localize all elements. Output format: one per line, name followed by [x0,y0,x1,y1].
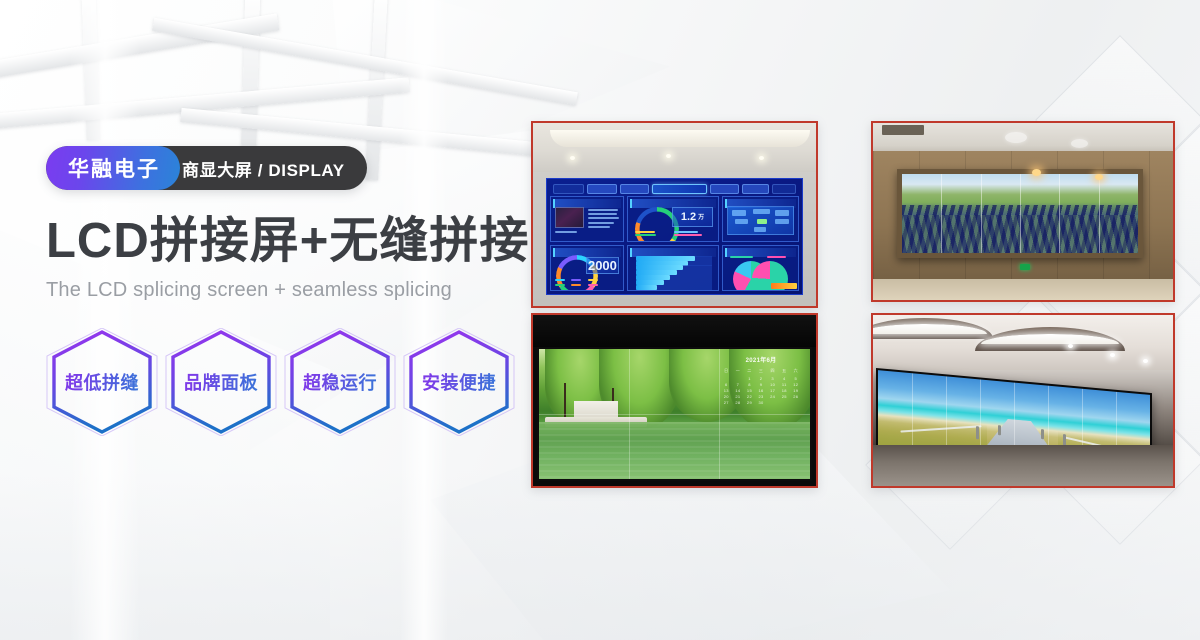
metric-value: 2000 [588,258,617,273]
calendar-day: 30 [755,400,767,406]
dashboard-panel-donut: 1.2 万 [627,196,719,242]
brand-badge-group: 华融电子 商显大屏 / DISPLAY [46,146,367,190]
calendar-title: 2021年6月 [720,357,801,366]
feature-label: 品牌面板 [165,369,277,395]
photo-beach-boardwalk-wall[interactable] [871,313,1175,488]
panel-seam [912,373,913,450]
feature-label: 超低拼缝 [46,369,158,395]
dashboard-title-chip [652,184,707,194]
wall-spotlight [1032,169,1041,176]
calendar-overlay: 2021年6月 日一二三四五六 123456789101112131415161… [720,357,801,409]
calendar-day: 28 [732,400,744,406]
panel-seam [539,414,810,415]
calendar-weekday: 五 [778,368,790,374]
panel-seam [719,349,720,478]
panel-seam [981,174,982,253]
calendar-day: 27 [720,400,732,406]
floor [873,279,1173,300]
calendar-day: 29 [744,400,756,406]
page-subtitle: The LCD splicing screen + seamless splic… [46,279,516,302]
ceiling-beam-vertical [241,0,261,165]
dashboard-panel-grid: 1.2 万 [550,196,800,291]
panel-seam [946,376,947,453]
dashboard-nav-chip [620,184,649,194]
dashboard-panel-donut2: 2000 [550,245,624,291]
product-banner: 华融电子 商显大屏 / DISPLAY LCD拼接屏+无缝拼接 The LCD … [0,0,1200,640]
calendar-weekday: 一 [732,368,744,374]
alert-ticker [771,283,797,289]
feature-label: 超稳运行 [284,369,396,395]
category-badge: 商显大屏 / DISPLAY [166,146,367,190]
ceiling-beam-horizontal [0,13,279,79]
dashboard-panel-flow [722,196,799,242]
panel-thumbnail [555,207,584,228]
brand-badge: 华融电子 [46,146,180,190]
dashboard-panel-bars [627,245,719,291]
dashboard-user-chip [772,184,796,194]
photo-willow-lake-wall[interactable]: 2021年6月 日一二三四五六 123456789101112131415161… [531,313,818,488]
metric-primary: 1.2 万 [672,207,714,227]
photo-content [873,123,1173,300]
ceiling-dome-light [1005,132,1027,143]
calendar-weekday: 三 [755,368,767,374]
bg-facet-5 [0,470,1200,640]
dashboard-nav-chip [587,184,616,194]
ceiling-beam-vertical [81,0,100,140]
feature-hexagon-3: 安装便捷 [403,328,515,436]
dashboard-nav-chip [710,184,739,194]
video-wall-screen [902,174,1138,253]
panel-seam [1059,174,1060,253]
photo-dashboard-wall[interactable]: 1.2 万 [531,121,818,308]
metric-secondary: 2000 [586,257,619,275]
metric-unit: 万 [698,212,704,221]
calendar-weekday: 六 [790,368,802,374]
panel-seam [1099,174,1100,253]
video-wall-screen: 2021年6月 日一二三四五六 123456789101112131415161… [539,349,810,478]
video-wall-screen: 1.2 万 [546,178,804,295]
feature-label: 安装便捷 [403,369,515,395]
calendar-weekday: 日 [720,368,732,374]
ceiling-dome-light [1071,139,1088,148]
photo-content [873,315,1173,486]
ceiling-vent [882,125,924,136]
rail-post [976,427,979,440]
calendar-day-grid: 1234567891011121314151617181920212223242… [720,376,801,406]
dashboard-timestamp [553,184,585,194]
lake-water [539,422,810,479]
calendar-weekday: 二 [744,368,756,374]
wall-upper-dark [533,315,816,347]
ceiling-cove [550,130,810,146]
video-wall-frame: 2021年6月 日一二三四五六 123456789101112131415161… [537,347,812,480]
dashboard-panel-pies [722,245,799,291]
feature-hexagon-row: 超低拼缝 品牌面板 [46,328,516,436]
calendar-day: 24 [767,394,779,400]
dashboard-header-bar [550,182,800,196]
metric-value: 1.2 [681,211,696,223]
ceiling-spotlight [570,156,575,160]
photo-content: 1.2 万 [533,123,816,306]
ceiling-beam-horizontal [0,77,410,129]
photo-solar-corridor-wall[interactable] [871,121,1175,302]
video-wall-frame [897,169,1143,258]
photo-content: 2021年6月 日一二三四五六 123456789101112131415161… [533,315,816,486]
feature-hexagon-2: 超稳运行 [284,328,396,436]
floor [873,445,1173,486]
panel-seam [941,174,942,253]
calendar-weekday: 四 [767,368,779,374]
panel-seam [1020,174,1021,253]
calendar-weekday-row: 日一二三四五六 [720,368,801,374]
rail-post [1041,429,1044,438]
feature-hexagon-0: 超低拼缝 [46,328,158,436]
dashboard-nav-chip [742,184,769,194]
rail-post [998,425,1001,434]
banner-copy: 华融电子 商显大屏 / DISPLAY LCD拼接屏+无缝拼接 The LCD … [46,146,516,436]
feature-hexagon-1: 品牌面板 [165,328,277,436]
calendar-day: 26 [790,394,802,400]
page-title: LCD拼接屏+无缝拼接 [46,216,516,267]
flow-diagram [727,206,793,235]
panel-seam [629,349,630,478]
calendar-day: 25 [778,394,790,400]
exit-sign [1020,264,1030,270]
dashboard-panel-intro [550,196,624,242]
downlight [1110,353,1115,357]
ceiling-beam-horizontal [152,18,578,105]
